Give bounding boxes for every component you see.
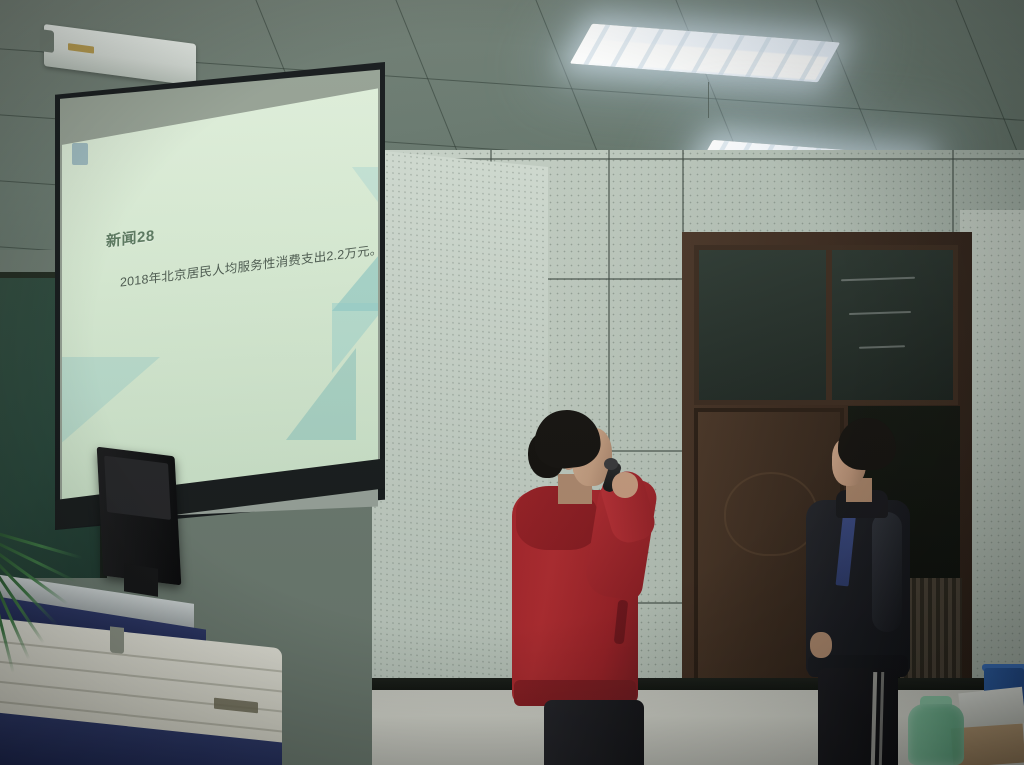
water-jug	[908, 704, 964, 765]
presenter-hand	[612, 472, 638, 498]
ceiling-wire-1	[708, 82, 709, 118]
classroom-scene: 新闻28 2018年北京居民人均服务性消费支出2.2万元。	[0, 0, 1024, 765]
transom-mullion	[826, 250, 832, 400]
potted-plant	[0, 520, 110, 700]
observer-pants	[818, 668, 898, 765]
microphone-head	[604, 458, 618, 470]
monitor-stand	[124, 563, 158, 596]
door-transom-window	[694, 245, 958, 405]
slide-title: 新闻28	[106, 224, 155, 251]
observer-hand	[810, 632, 832, 658]
observer-jacket-sheen	[872, 512, 902, 632]
housing-label	[68, 43, 94, 53]
observer-hair	[838, 418, 896, 470]
lectern-notch	[110, 626, 124, 653]
housing-end-cap	[40, 29, 54, 53]
slide-body-text: 2018年北京居民人均服务性消费支出2.2万元。	[120, 239, 378, 291]
door-carving	[724, 472, 818, 556]
monitor-back-panel	[104, 456, 171, 520]
presenter-pants	[544, 700, 644, 765]
white-panel	[958, 687, 1024, 729]
